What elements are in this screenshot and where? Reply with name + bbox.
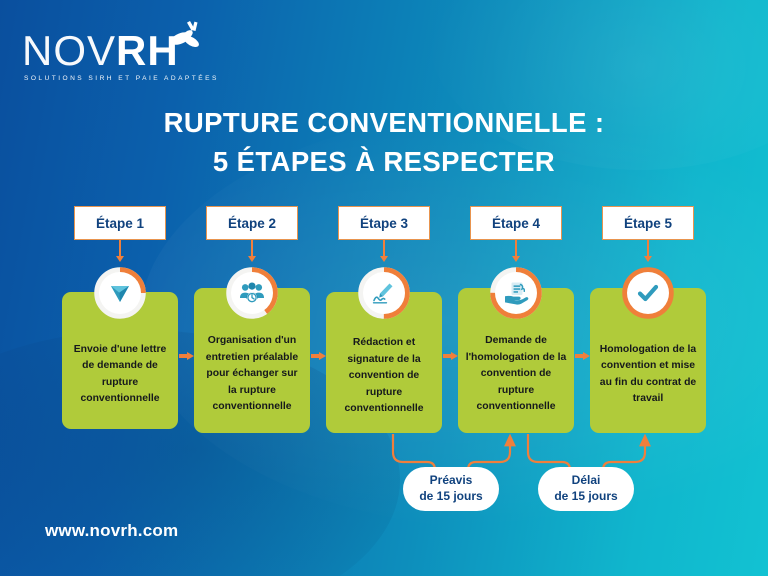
icon-disc-1 [99, 272, 141, 314]
label-arrowhead-3 [380, 256, 388, 262]
infographic-canvas: NOVRH SOLUTIONS SIRH ET PAIE ADAPTÉES RU… [0, 0, 768, 576]
callout-delai-line-2: de 15 jours [554, 489, 617, 505]
step-label-4[interactable]: Étape 4 [470, 206, 562, 240]
step-label-2[interactable]: Étape 2 [206, 206, 298, 240]
page-title: RUPTURE CONVENTIONNELLE : 5 ÉTAPES À RES… [0, 103, 768, 181]
icon-disc-3 [363, 272, 405, 314]
step-icon-medallion-1 [94, 267, 146, 319]
bee-icon [164, 18, 208, 58]
check-circle-icon [635, 280, 661, 306]
hand-document-icon [503, 281, 529, 305]
icon-disc-4 [495, 272, 537, 314]
step-icon-medallion-2 [226, 267, 278, 319]
step-icon-medallion-5 [622, 267, 674, 319]
step-label-5[interactable]: Étape 5 [602, 206, 694, 240]
title-line-1: RUPTURE CONVENTIONNELLE : [0, 103, 768, 142]
signature-pen-icon [371, 281, 397, 305]
step-card-4-text: Demande de l'homologation de la conventi… [465, 333, 567, 415]
flow-arrow-3-to-4-head [451, 352, 458, 360]
logo-nov-text: NOV [22, 27, 116, 74]
flow-arrow-2-to-3-head [319, 352, 326, 360]
step-label-1[interactable]: Étape 1 [74, 206, 166, 240]
logo-wordmark: NOVRH [22, 30, 179, 72]
flow-arrow-2-to-3 [311, 352, 326, 360]
flow-arrow-1-to-2 [179, 352, 194, 360]
label-arrowhead-2 [248, 256, 256, 262]
meeting-people-clock-icon [239, 281, 265, 305]
step-card-2-text: Organisation d'un entretien préalable po… [201, 333, 303, 415]
label-arrowhead-4 [512, 256, 520, 262]
step-card-3-text: Rédaction et signature de la convention … [333, 335, 435, 417]
label-arrowhead-1 [116, 256, 124, 262]
flow-arrow-4-to-5 [575, 352, 590, 360]
icon-disc-5 [627, 272, 669, 314]
callout-delai-line-1: Délai [572, 473, 601, 489]
step-card-1-text: Envoie d'une lettre de demande de ruptur… [69, 342, 171, 408]
paper-plane-icon [108, 281, 132, 305]
callout-preavis[interactable]: Préavis de 15 jours [403, 467, 499, 511]
footer-website-url[interactable]: www.novrh.com [45, 521, 178, 541]
step-icon-medallion-3 [358, 267, 410, 319]
step-label-3[interactable]: Étape 3 [338, 206, 430, 240]
step-icon-medallion-4 [490, 267, 542, 319]
flow-arrow-1-to-2-head [187, 352, 194, 360]
callout-preavis-line-2: de 15 jours [419, 489, 482, 505]
novrh-logo: NOVRH SOLUTIONS SIRH ET PAIE ADAPTÉES [22, 16, 252, 88]
callout-preavis-line-1: Préavis [430, 473, 473, 489]
icon-disc-2 [231, 272, 273, 314]
label-arrowhead-5 [644, 256, 652, 262]
flow-arrow-3-to-4 [443, 352, 458, 360]
flow-arrow-4-to-5-head [583, 352, 590, 360]
callout-delai[interactable]: Délai de 15 jours [538, 467, 634, 511]
step-card-5-text: Homologation de la convention et mise au… [597, 342, 699, 408]
title-line-2: 5 ÉTAPES À RESPECTER [0, 142, 768, 181]
logo-tagline: SOLUTIONS SIRH ET PAIE ADAPTÉES [24, 75, 219, 82]
